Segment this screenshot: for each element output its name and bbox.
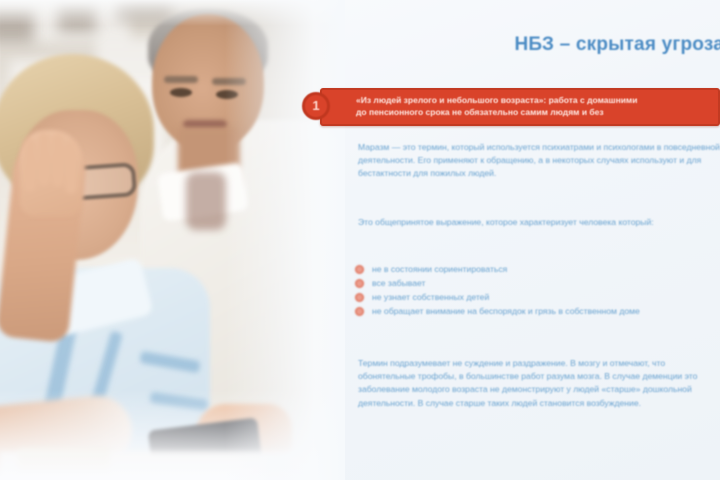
list-item-label: все забывает bbox=[372, 278, 425, 288]
list-item: не узнает собственных детей bbox=[354, 291, 714, 304]
list-item: не в состоянии сориентироваться bbox=[354, 263, 714, 276]
body-paragraph-1: Маразм — это термин, который используетс… bbox=[358, 141, 720, 181]
slide-content-panel: НБЗ – скрытая угроза 1 «Из людей зрелого… bbox=[345, 0, 720, 480]
elderly-couple-photo bbox=[0, 0, 345, 480]
woman-hand-at-temple bbox=[20, 130, 82, 216]
bullet-marker-icon bbox=[355, 307, 364, 316]
callout-line-1: «Из людей зрелого и небольшого возраста»… bbox=[356, 95, 710, 107]
man-torso-shadow bbox=[186, 172, 226, 230]
bullet-marker-icon bbox=[355, 279, 364, 288]
man-eye bbox=[170, 88, 192, 97]
bullet-marker-icon bbox=[355, 293, 364, 302]
presentation-slide: НБЗ – скрытая угроза 1 «Из людей зрелого… bbox=[0, 0, 720, 480]
callout-line-2: до пенсионного срока не обязательно сами… bbox=[356, 107, 710, 119]
list-item-label: не обращает внимание на беспорядок и гря… bbox=[372, 306, 640, 316]
callout-text: «Из людей зрелого и небольшого возраста»… bbox=[356, 95, 710, 118]
man-eyebrow bbox=[164, 76, 198, 83]
list-item-label: не в состоянии сориентироваться bbox=[372, 264, 507, 274]
warning-callout-banner: 1 «Из людей зрелого и небольшого возраст… bbox=[320, 88, 720, 126]
symptom-bullet-list: не в состоянии сориентироваться все забы… bbox=[354, 263, 714, 319]
list-item-label: не узнает собственных детей bbox=[372, 292, 489, 302]
list-item: все забывает bbox=[354, 277, 714, 290]
bullet-marker-icon bbox=[355, 265, 364, 274]
body-paragraph-2: Это общепринятое выражение, которое хара… bbox=[358, 216, 720, 229]
list-item: не обращает внимание на беспорядок и гря… bbox=[354, 305, 714, 318]
body-paragraph-3: Термин подразумевает не суждение и раздр… bbox=[358, 357, 720, 410]
page-title: НБЗ – скрытая угроза bbox=[324, 34, 720, 56]
photo-fade-right bbox=[225, 0, 345, 480]
callout-number-badge: 1 bbox=[302, 92, 330, 120]
